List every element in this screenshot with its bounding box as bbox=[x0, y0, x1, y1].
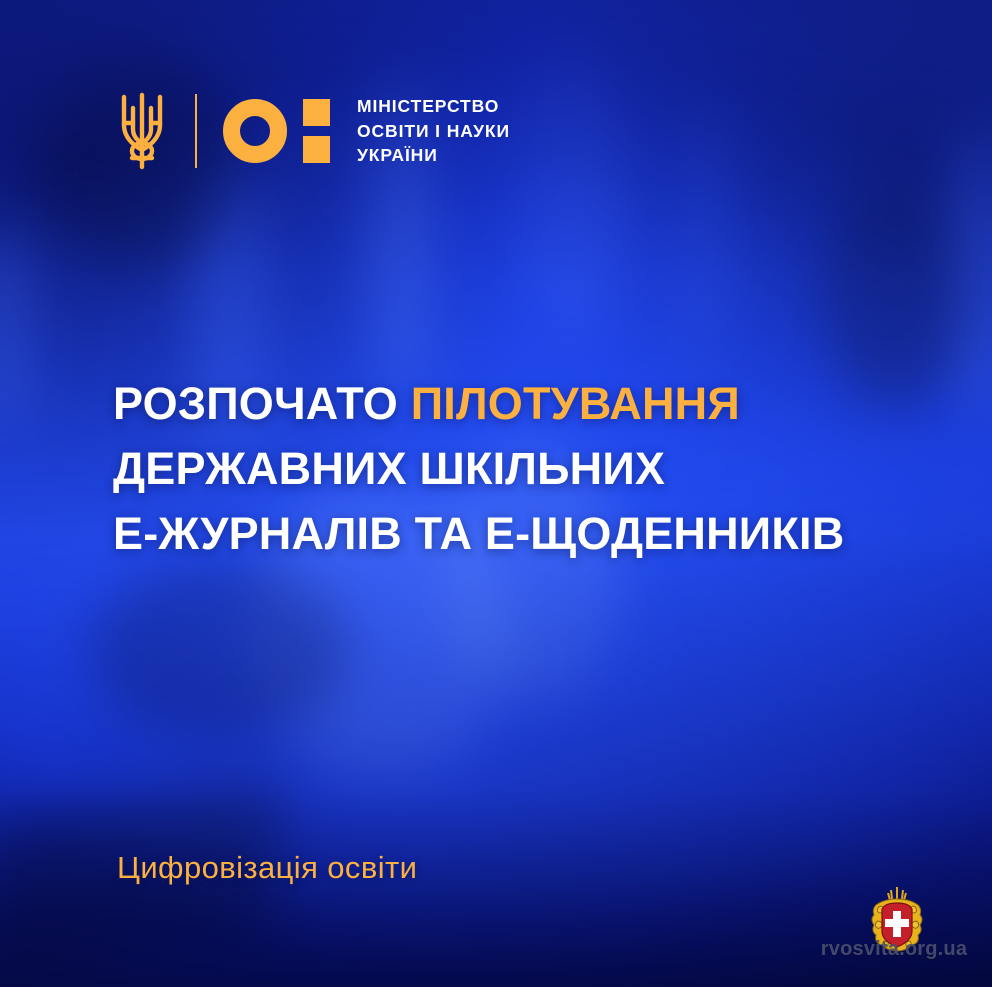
headline-line-1-white: РОЗПОЧАТО bbox=[113, 378, 398, 429]
ministry-name-line-3: УКРАЇНИ bbox=[357, 143, 510, 168]
ministry-logo: МІНІСТЕРСТВО ОСВІТИ І НАУКИ УКРАЇНИ bbox=[113, 88, 510, 174]
headline-line-3: Е-ЖУРНАЛІВ ТА Е-ЩОДЕННИКІВ bbox=[113, 502, 844, 567]
mon-colon-icon bbox=[303, 99, 330, 163]
headline-line-2: ДЕРЖАВНИХ ШКІЛЬНИХ bbox=[113, 437, 844, 502]
mon-colon-square-bottom bbox=[303, 136, 330, 163]
poster-canvas: МІНІСТЕРСТВО ОСВІТИ І НАУКИ УКРАЇНИ РОЗП… bbox=[0, 0, 992, 987]
headline-line-1-highlight: ПІЛОТУВАННЯ bbox=[411, 378, 740, 429]
mon-o-colon-mark-icon bbox=[223, 99, 330, 163]
watermark-text: rvosvita.org.ua bbox=[814, 938, 974, 961]
headline-line-1: РОЗПОЧАТО ПІЛОТУВАННЯ bbox=[113, 372, 844, 437]
mon-o-ring-icon bbox=[223, 99, 287, 163]
ministry-name-line-2: ОСВІТИ І НАУКИ bbox=[357, 119, 510, 144]
site-watermark: rvosvita.org.ua bbox=[814, 883, 974, 979]
ukrainian-trident-icon bbox=[113, 88, 171, 174]
page-title: РОЗПОЧАТО ПІЛОТУВАННЯ ДЕРЖАВНИХ ШКІЛЬНИХ… bbox=[113, 372, 844, 566]
ministry-name-line-1: МІНІСТЕРСТВО bbox=[357, 94, 510, 119]
poster-content: МІНІСТЕРСТВО ОСВІТИ І НАУКИ УКРАЇНИ РОЗП… bbox=[0, 0, 992, 987]
ministry-name: МІНІСТЕРСТВО ОСВІТИ І НАУКИ УКРАЇНИ bbox=[357, 94, 510, 169]
logo-divider-icon bbox=[195, 94, 197, 168]
kicker-label: Цифровізація освіти bbox=[117, 850, 417, 886]
mon-colon-square-top bbox=[303, 99, 330, 126]
